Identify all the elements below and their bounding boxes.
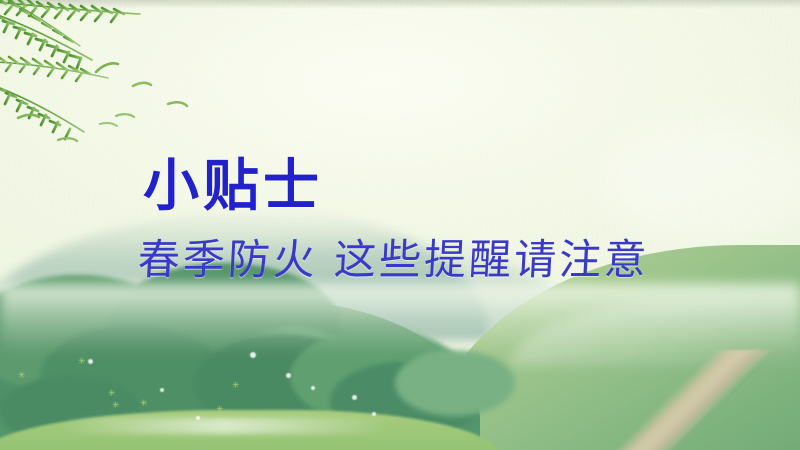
grass-highlight bbox=[60, 418, 390, 434]
blossom-speck bbox=[88, 359, 93, 364]
blossom-speck bbox=[160, 388, 164, 392]
blossom-speck bbox=[352, 395, 357, 400]
page-title: 小贴士 bbox=[143, 141, 323, 222]
grass-tuft: ✳ bbox=[108, 389, 116, 398]
hillside-path-shadow bbox=[540, 350, 800, 450]
grass-tuft: ✳ bbox=[140, 399, 148, 408]
grass-tuft: ✳ bbox=[112, 401, 120, 410]
grass-tuft: ✳ bbox=[18, 371, 26, 380]
grass-tuft: ✳ bbox=[78, 357, 86, 366]
blossom-speck bbox=[372, 412, 376, 416]
blossom-speck bbox=[311, 386, 315, 390]
page-subtitle: 春季防火 这些提醒请注意 bbox=[136, 226, 651, 287]
title-card-slide: ✳ ✳ ✳ ✳ ✳ ✳ ✳ bbox=[0, 0, 800, 450]
grass-tuft: ✳ bbox=[216, 405, 224, 414]
grass-tuft: ✳ bbox=[232, 381, 240, 390]
blossom-speck bbox=[286, 373, 291, 378]
blossom-speck bbox=[250, 352, 256, 358]
blossom-speck bbox=[196, 416, 200, 420]
tree-cluster bbox=[395, 350, 515, 416]
